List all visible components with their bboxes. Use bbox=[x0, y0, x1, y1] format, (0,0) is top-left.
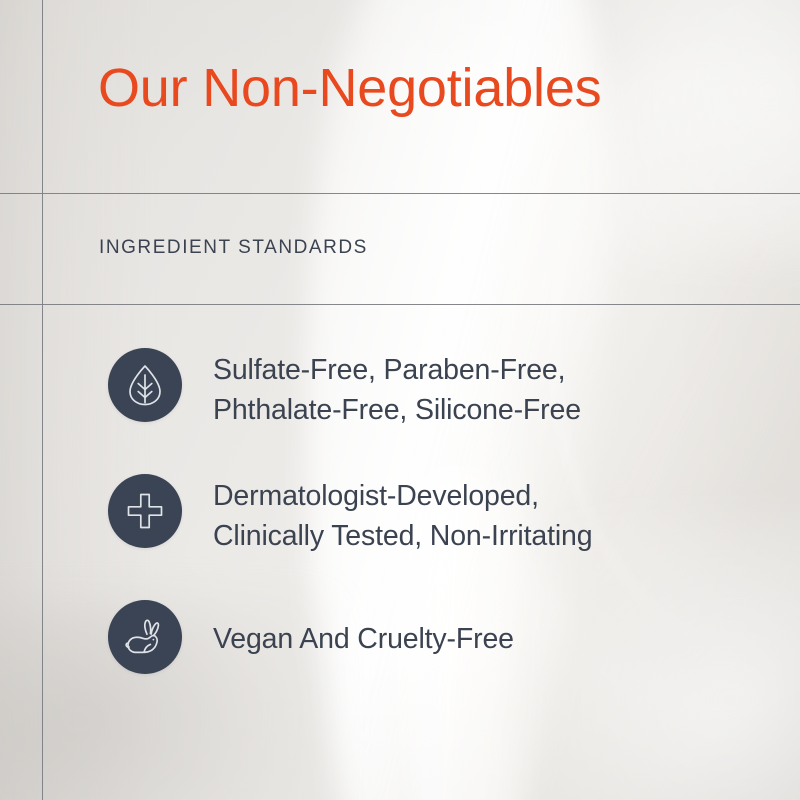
vertical-rule-left bbox=[42, 0, 43, 800]
claim-item-dermatologist: Dermatologist-Developed, Clinically Test… bbox=[108, 474, 768, 557]
promo-card: Our Non-Negotiables INGREDIENT STANDARDS… bbox=[0, 0, 800, 800]
page-title: Our Non-Negotiables bbox=[98, 61, 601, 116]
claim-line-1: Vegan And Cruelty-Free bbox=[213, 623, 514, 655]
rabbit-icon bbox=[123, 617, 167, 657]
claim-line-2: Clinically Tested, Non-Irritating bbox=[213, 520, 592, 552]
claim-text-vegan-cruelty-free: Vegan And Cruelty-Free bbox=[213, 600, 768, 659]
medical-plus-icon bbox=[125, 491, 165, 531]
horizontal-rule-bottom bbox=[0, 304, 800, 305]
claim-item-ingredient-free: Sulfate-Free, Paraben-Free, Phthalate-Fr… bbox=[108, 348, 768, 431]
leaf-droplet-icon bbox=[125, 363, 165, 407]
claim-line-2: Phthalate-Free, Silicone-Free bbox=[213, 394, 581, 426]
medical-plus-icon-badge bbox=[108, 474, 182, 548]
claim-item-vegan-cruelty-free: Vegan And Cruelty-Free bbox=[108, 600, 768, 674]
leaf-droplet-icon-badge bbox=[108, 348, 182, 422]
claims-list: Sulfate-Free, Paraben-Free, Phthalate-Fr… bbox=[108, 348, 768, 674]
claim-line-1: Dermatologist-Developed, bbox=[213, 480, 539, 512]
claim-text-ingredient-free: Sulfate-Free, Paraben-Free, Phthalate-Fr… bbox=[213, 348, 768, 431]
rabbit-icon-badge bbox=[108, 600, 182, 674]
claim-line-1: Sulfate-Free, Paraben-Free, bbox=[213, 354, 565, 386]
claim-text-dermatologist: Dermatologist-Developed, Clinically Test… bbox=[213, 474, 768, 557]
horizontal-rule-top bbox=[0, 193, 800, 194]
section-label-ingredient-standards: INGREDIENT STANDARDS bbox=[99, 237, 368, 259]
